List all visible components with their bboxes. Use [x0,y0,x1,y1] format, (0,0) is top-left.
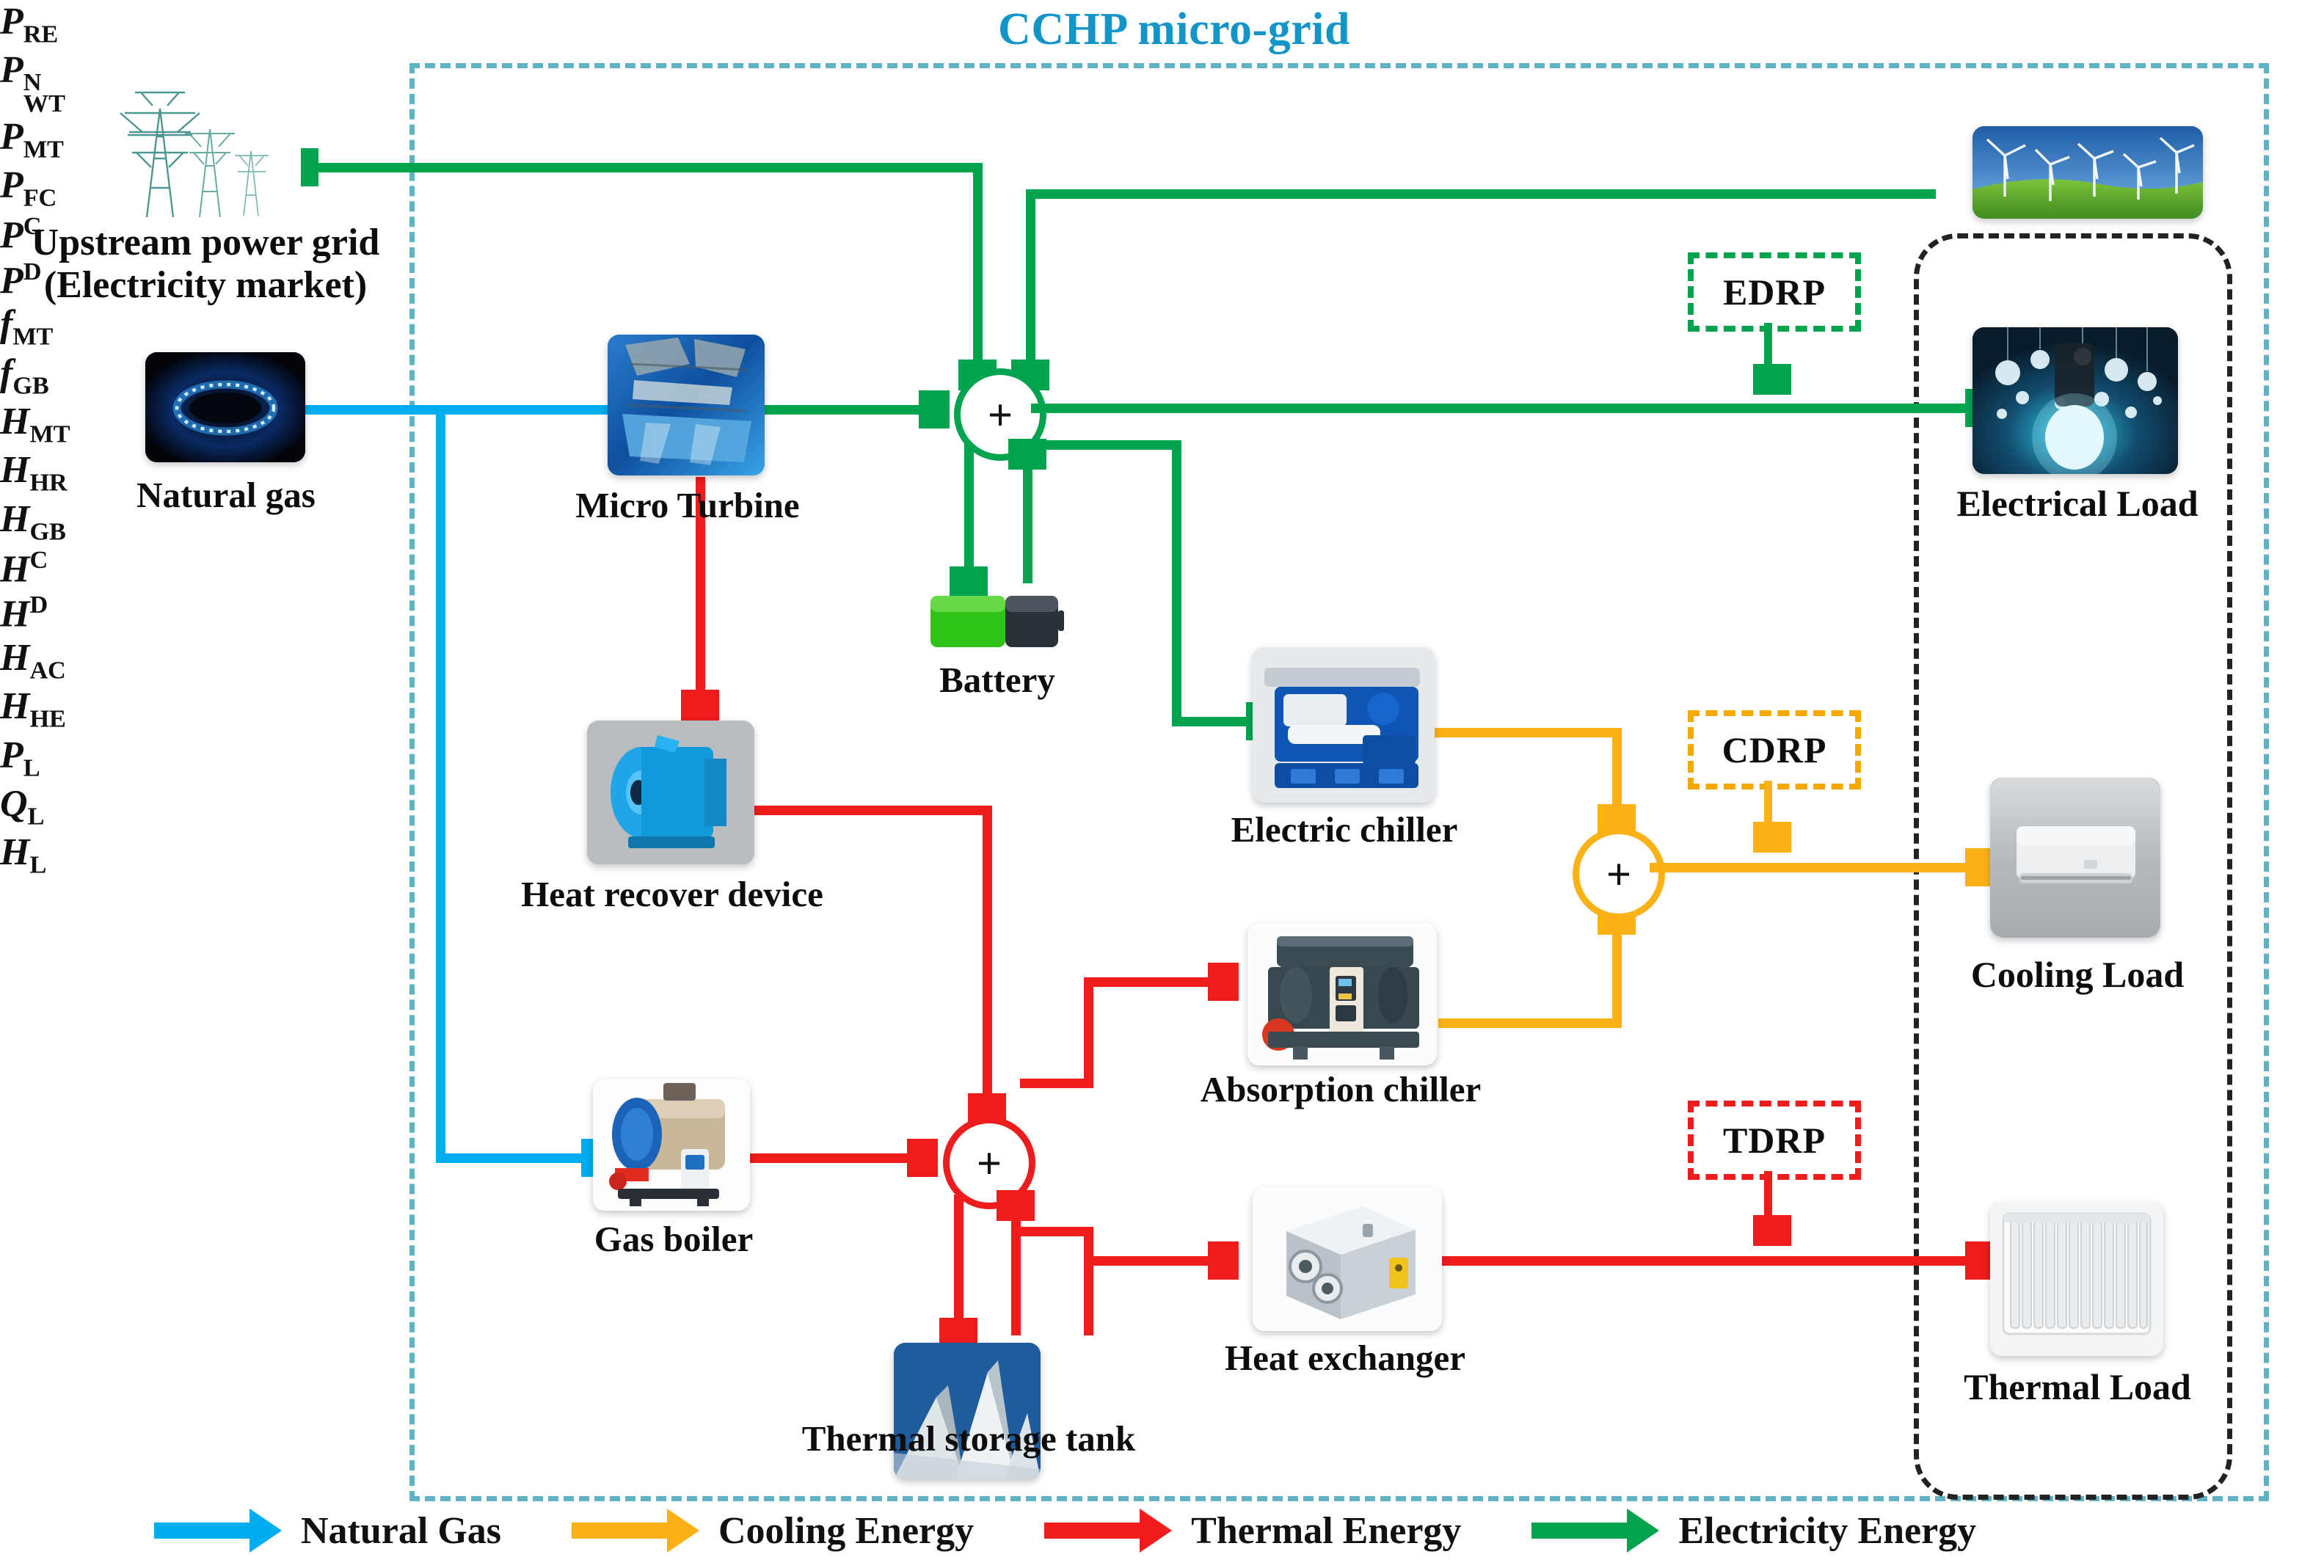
thermal-load-label: Thermal Load [1927,1366,2228,1407]
flow-line-p-re [318,163,983,172]
legend-label-thermal-energy: Thermal Energy [1191,1509,1461,1553]
battery-label: Battery [901,660,1093,701]
flow-line-ac-cooling-v [1612,922,1622,1024]
transmission-tower-icon [103,70,301,225]
micro-turbine-label: Micro Turbine [544,486,831,526]
battery-icon [928,587,1066,654]
legend-item-natural-gas: Natural Gas [154,1509,501,1553]
flow-line-f-gb [436,1153,586,1163]
edrp-chip[interactable]: EDRP [1688,252,1861,332]
heat-exchanger-label: Heat exchanger [1174,1338,1516,1379]
natural-gas-label: Natural gas [95,475,357,516]
arrowhead-h-gb [907,1139,938,1177]
flow-line-node-to-chiller-h [1031,440,1181,450]
flow-line-h-ac-a [1020,1079,1093,1088]
flow-line-h-he-b [1084,1256,1214,1266]
flow-line-to-thermal-load [1442,1256,1970,1266]
page-title: CCHP micro-grid [844,4,1504,55]
tdrp-chip[interactable]: TDRP [1688,1101,1861,1180]
flow-line-h-c [954,1195,964,1335]
flow-line-p-d [1023,455,1032,583]
gas-flame-icon [145,352,305,462]
arrowhead-p-mt [919,390,950,429]
flow-line-p-wt [1026,189,1936,199]
legend-label-natural-gas: Natural Gas [301,1509,501,1553]
flow-line-h-hr-h [754,806,992,815]
boiler-icon [593,1079,750,1211]
arrowhead-edrp [1753,364,1791,395]
legend-label-cooling-energy: Cooling Energy [718,1509,974,1553]
electric-chiller-icon [1253,647,1435,803]
legend-item-cooling-energy: Cooling Energy [572,1509,974,1553]
lightbulbs-icon [1973,327,2178,474]
tdrp-feed-line [1764,1171,1772,1219]
radiator-icon [1990,1202,2163,1356]
air-conditioner-icon [1990,778,2160,938]
electric-chiller-label: Electric chiller [1189,810,1500,850]
flow-line-h-he-v [1084,1227,1093,1335]
flow-line-node-to-chiller-v [1172,440,1181,726]
flow-line-gas-branch [436,409,445,1158]
legend-arrow-electricity-energy [1531,1521,1659,1540]
flow-line-p-mt [763,405,926,415]
legend-item-thermal-energy: Thermal Energy [1044,1509,1461,1553]
flow-line-h-ac-v [1084,977,1093,1084]
cdrp-feed-line [1764,781,1772,826]
arrowhead-h-he [1208,1241,1239,1280]
arrowhead-p-d [1008,439,1046,470]
arrowhead-h-mt [681,690,719,721]
cooling-summation-node: + [1573,828,1665,920]
legend-arrow-cooling-energy [572,1521,699,1540]
heat-exchanger-icon [1253,1187,1442,1331]
flow-riser-p-re [973,163,983,380]
edrp-feed-line [1764,323,1772,370]
legend-arrow-thermal-energy [1044,1521,1172,1540]
legend-label-electricity-energy: Electricity Energy [1678,1509,1976,1553]
arrowhead-h-ac [1208,963,1239,1001]
flow-riser-p-wt [1026,189,1035,380]
arrowhead-cdrp [1753,822,1791,853]
legend-arrow-natural-gas [154,1521,282,1540]
cooling-load-label: Cooling Load [1927,954,2228,995]
heat-recover-label: Heat recover device [493,875,851,915]
wind-farm-icon [1973,126,2203,219]
turbine-icon [608,335,765,475]
legend-item-electricity-energy: Electricity Energy [1531,1509,1976,1553]
upstream-grid-label: Upstream power grid (Electricity market) [7,222,404,307]
arrowhead-h-d [997,1190,1035,1221]
legend: Natural Gas Cooling Energy Thermal Energ… [154,1501,2267,1560]
electrical-load-label: Electrical Load [1927,483,2228,524]
thermal-storage-label: Thermal storage tank [771,1419,1167,1459]
cchp-microgrid-diagram: CCHP micro-grid PRE PNWT PMT + PFC PC PD [0,0,2324,1568]
flow-line-to-cooling-load [1650,863,1973,872]
cdrp-chip[interactable]: CDRP [1688,710,1861,790]
absorption-chiller-icon [1247,923,1437,1065]
flow-line-p-fc [1172,717,1251,726]
flow-line-to-electrical-load [1031,404,1970,413]
absorption-chiller-label: Absorption chiller [1165,1070,1516,1110]
flow-line-ec-cooling-h [1435,728,1622,737]
flow-line-p-c [964,444,974,583]
flow-line-h-ac-b [1084,977,1214,987]
flow-line-h-hr-v [983,806,992,1114]
flow-line-ac-cooling-h [1438,1018,1622,1028]
flow-line-h-gb [750,1153,913,1163]
gas-boiler-label: Gas boiler [550,1219,797,1260]
flow-line-h-he-a [1020,1227,1093,1236]
heat-recovery-icon [587,721,754,864]
arrowhead-tdrp [1753,1215,1791,1246]
